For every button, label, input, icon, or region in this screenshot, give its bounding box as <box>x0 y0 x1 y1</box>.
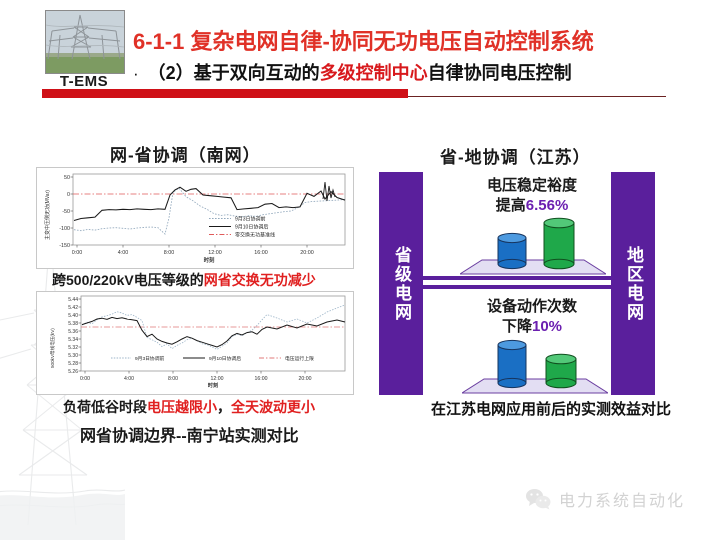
svg-text:主变中压侧无功(MVar): 主变中压侧无功(MVar) <box>44 190 51 240</box>
svg-text:5.44: 5.44 <box>68 297 78 303</box>
province-grid-label: 省级电网 <box>390 246 412 322</box>
svg-text:时刻: 时刻 <box>204 256 215 264</box>
svg-text:5.26: 5.26 <box>68 369 78 375</box>
voltage-margin-unit: % <box>555 197 568 214</box>
device-action-unit: % <box>549 318 562 335</box>
chart2-title: 网省协调边界--南宁站实测对比 <box>80 422 299 446</box>
chart2-caption: 负荷低谷时段电压越限小，全天波动更小 <box>63 397 315 417</box>
svg-text:5.38: 5.38 <box>68 321 78 327</box>
svg-text:9月10日协调后: 9月10日协调后 <box>209 355 241 362</box>
chart1-frame: 50 0 -50 -100 -150 主变中压侧无功(MVar) <box>36 167 354 269</box>
voltage-margin-value: 6.56 <box>526 197 555 214</box>
device-action-note: 设备动作次数 下降10% <box>462 297 602 337</box>
svg-text:9月3日协调前: 9月3日协调前 <box>135 355 165 362</box>
svg-text:-50: -50 <box>62 209 70 215</box>
header-rule-thick <box>42 89 408 98</box>
svg-text:8:00: 8:00 <box>164 250 175 256</box>
regional-grid-label: 地区电网 <box>622 246 644 322</box>
svg-text:5.32: 5.32 <box>68 345 78 351</box>
svg-text:0: 0 <box>67 192 70 198</box>
svg-text:4:00: 4:00 <box>118 250 129 256</box>
upper-bar-chart-3d <box>460 216 606 283</box>
logo-label: T-EMS <box>45 75 123 89</box>
subtitle-row: · （2）基于双向互动的多级控制中心自律协同电压控制 <box>133 59 708 85</box>
wechat-icon <box>525 488 552 510</box>
svg-text:20:00: 20:00 <box>299 376 312 382</box>
right-diagram-title: 省-地协调（江苏） <box>440 143 591 168</box>
subtitle-text: （2）基于双向互动的多级控制中心自律协同电压控制 <box>148 59 572 85</box>
svg-text:9月3日协调前: 9月3日协调前 <box>235 215 266 222</box>
chart1-caption: 跨500/220kV电压等级的网省交换无功减少 <box>52 270 316 290</box>
subtitle-post: 自律协同电压控制 <box>428 63 572 83</box>
svg-text:20:00: 20:00 <box>300 250 314 256</box>
svg-text:电压运行上限: 电压运行上限 <box>285 355 314 362</box>
chart2-frame: 5.445.425.40 5.385.365.34 5.325.305.28 5… <box>36 291 354 395</box>
bar-after-upper <box>544 218 574 269</box>
province-grid-box: 省级电网 <box>379 172 423 395</box>
page-title: 6-1-1 复杂电网自律-协同无功电压自动控制系统 <box>133 24 693 56</box>
svg-text:-150: -150 <box>59 243 70 249</box>
logo-block: T-EMS <box>45 10 123 82</box>
svg-text:0:00: 0:00 <box>80 376 90 382</box>
subtitle-pre: （2）基于双向互动的 <box>148 63 320 83</box>
right-diagram-caption: 在江苏电网应用前后的实测效益对比 <box>396 398 706 419</box>
svg-text:9月10日协调后: 9月10日协调后 <box>235 223 268 230</box>
chart1-caption-highlight: 网省交换无功减少 <box>204 272 316 288</box>
svg-text:50: 50 <box>64 175 70 181</box>
bus-line-bottom <box>423 285 611 289</box>
chart2-plot: 5.445.425.40 5.385.365.34 5.325.305.28 5… <box>37 292 353 394</box>
svg-text:4:00: 4:00 <box>124 376 134 382</box>
bar-after-lower <box>546 354 576 388</box>
svg-text:0:00: 0:00 <box>72 250 83 256</box>
svg-text:16:00: 16:00 <box>254 250 268 256</box>
voltage-margin-line1: 电压稳定裕度 <box>462 176 602 196</box>
chart2-caption-mid: ， <box>217 399 231 415</box>
svg-text:-100: -100 <box>59 226 70 232</box>
svg-text:5.40: 5.40 <box>68 313 78 319</box>
chart1-plot: 50 0 -50 -100 -150 主变中压侧无功(MVar) <box>37 168 353 268</box>
svg-text:5.34: 5.34 <box>68 337 78 343</box>
svg-text:8:00: 8:00 <box>168 376 178 382</box>
chart2-caption-pre: 负荷低谷时段 <box>63 399 147 415</box>
svg-text:时刻: 时刻 <box>208 381 218 389</box>
voltage-margin-note: 电压稳定裕度 提高6.56% <box>462 176 602 216</box>
svg-text:5.42: 5.42 <box>68 305 78 311</box>
chart2-caption-hl2: 全天波动更小 <box>231 399 315 415</box>
subtitle-highlight: 多级控制中心 <box>320 63 428 83</box>
svg-text:5.30: 5.30 <box>68 353 78 359</box>
svg-text:12:00: 12:00 <box>211 376 224 382</box>
svg-text:12:00: 12:00 <box>208 250 222 256</box>
chart1-title: 网-省协调（南网） <box>110 141 261 166</box>
device-action-value: 10 <box>532 318 549 335</box>
svg-text:500kV母线电压(kV): 500kV母线电压(kV) <box>49 328 56 368</box>
bar-before-lower <box>498 340 526 387</box>
slide-canvas: T-EMS 6-1-1 复杂电网自律-协同无功电压自动控制系统 · （2）基于双… <box>0 0 720 540</box>
tower-photo-icon <box>45 10 125 74</box>
wechat-watermark-text: 电力系统自动化 <box>559 487 685 511</box>
device-action-line1: 设备动作次数 <box>462 297 602 317</box>
device-action-line2-pre: 下降 <box>502 318 532 335</box>
wechat-watermark: 电力系统自动化 <box>525 487 685 511</box>
lower-bar-chart-3d <box>462 339 608 402</box>
bullet-icon: · <box>133 65 139 82</box>
svg-text:零交换无功基准线: 零交换无功基准线 <box>235 231 275 238</box>
chart1-caption-pre: 跨500/220kV电压等级的 <box>52 272 204 288</box>
svg-text:16:00: 16:00 <box>255 376 268 382</box>
bar-before-upper <box>498 233 526 268</box>
svg-text:5.28: 5.28 <box>68 361 78 367</box>
regional-grid-box: 地区电网 <box>611 172 655 395</box>
voltage-margin-line2-pre: 提高 <box>496 197 526 214</box>
chart2-caption-hl1: 电压越限小 <box>147 399 217 415</box>
svg-text:5.36: 5.36 <box>68 329 78 335</box>
